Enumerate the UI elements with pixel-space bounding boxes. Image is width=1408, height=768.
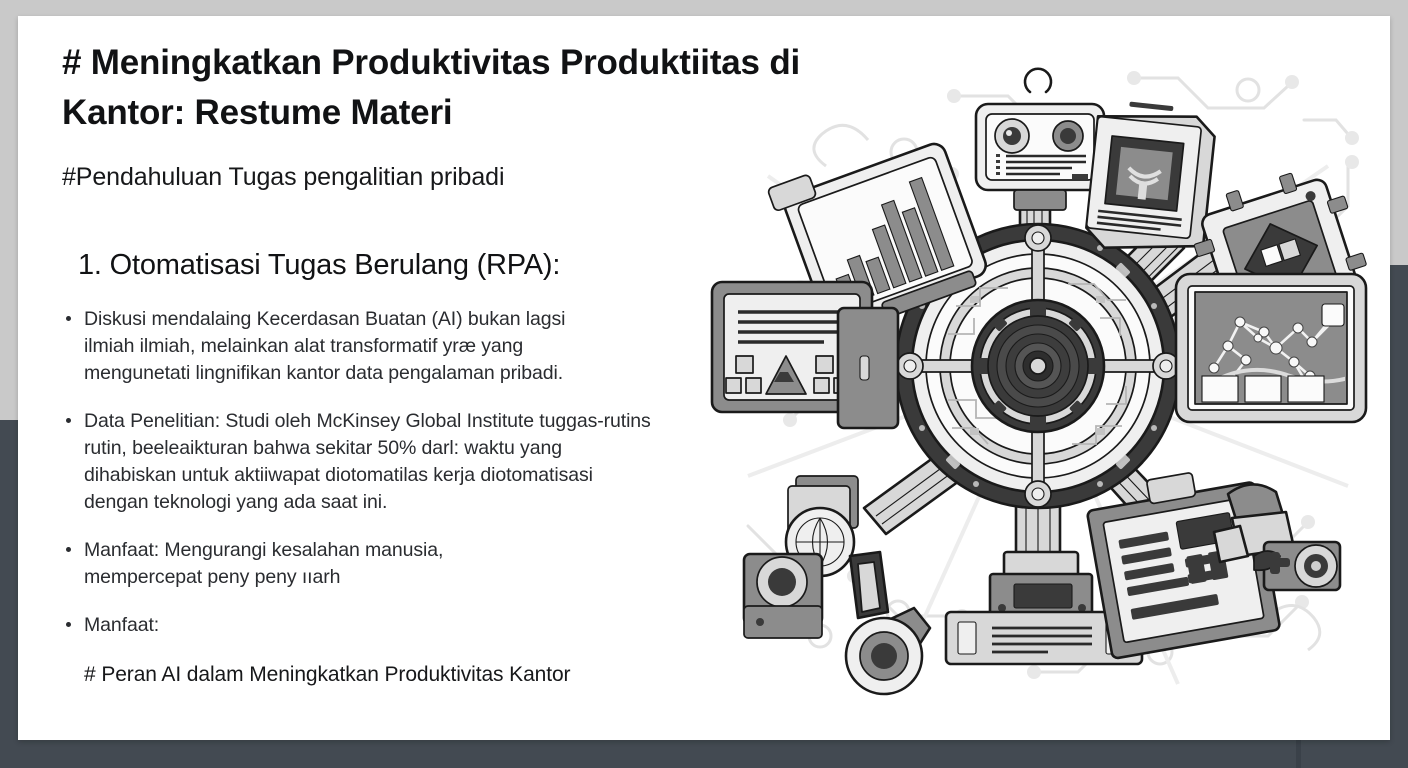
page-title-line-2: Kantor: Restume Materi: [62, 88, 722, 138]
bullet-line: Data Penelitian: Studi oleh McKinsey Glo…: [84, 408, 722, 435]
page-subtitle: #Pendahuluan Tugas pengalitian pribadi: [62, 160, 722, 194]
camera-module: [976, 69, 1104, 210]
bullet-line: dengan teknologi yang ada saat ini.: [84, 489, 722, 516]
footer-heading: # Peran AI dalam Meningkatkan Produktivi…: [84, 660, 722, 690]
ai-office-automation-hub-illustration: .o{stroke:#1a1a1a;stroke-width:2.6;strok…: [708, 56, 1368, 696]
screenshot-root: # Meningkatkan Produktivitas Produktiita…: [0, 0, 1408, 768]
bullet-line: mengunetati lingnifikan kantor data peng…: [84, 360, 722, 387]
list-item: Diskusi mendalaing Kecerdasan Buatan (AI…: [62, 306, 722, 387]
bullet-line: Manfaat: Mengurangi kesalahan manusia,: [84, 537, 722, 564]
list-item: Data Penelitian: Studi oleh McKinsey Glo…: [62, 408, 722, 516]
list-item: Manfaat: Mengurangi kesalahan manusia, m…: [62, 537, 722, 591]
bullet-line: mempercepat peny peny ııarh: [84, 564, 722, 591]
bullet-line: ilmiah ilmiah, melainkan alat transforma…: [84, 333, 722, 360]
slide-text-column: # Meningkatkan Produktivitas Produktiita…: [62, 38, 722, 690]
bullet-line: rutin, beeleaikturan bahwa sekitar 50% d…: [84, 435, 722, 462]
bullet-line: Diskusi mendalaing Kecerdasan Buatan (AI…: [84, 306, 722, 333]
bullet-line: Manfaat:: [84, 612, 722, 639]
page-title: # Meningkatkan Produktivitas Produktiita…: [62, 38, 722, 138]
bullet-list: Diskusi mendalaing Kecerdasan Buatan (AI…: [62, 306, 722, 639]
image-document-screen: [712, 282, 898, 428]
section-heading: 1. Otomatisasi Tugas Berulang (RPA):: [78, 246, 722, 284]
page-title-line-1: # Meningkatkan Produktivitas Produktiita…: [62, 38, 722, 88]
slide-card: # Meningkatkan Produktivitas Produktiita…: [18, 16, 1390, 740]
document-monitor: [1084, 98, 1217, 258]
network-graph-screen: [1176, 274, 1366, 422]
list-item: Manfaat:: [62, 612, 722, 639]
bullet-line: dihabiskan untuk aktiiwapat diotomatilas…: [84, 462, 722, 489]
